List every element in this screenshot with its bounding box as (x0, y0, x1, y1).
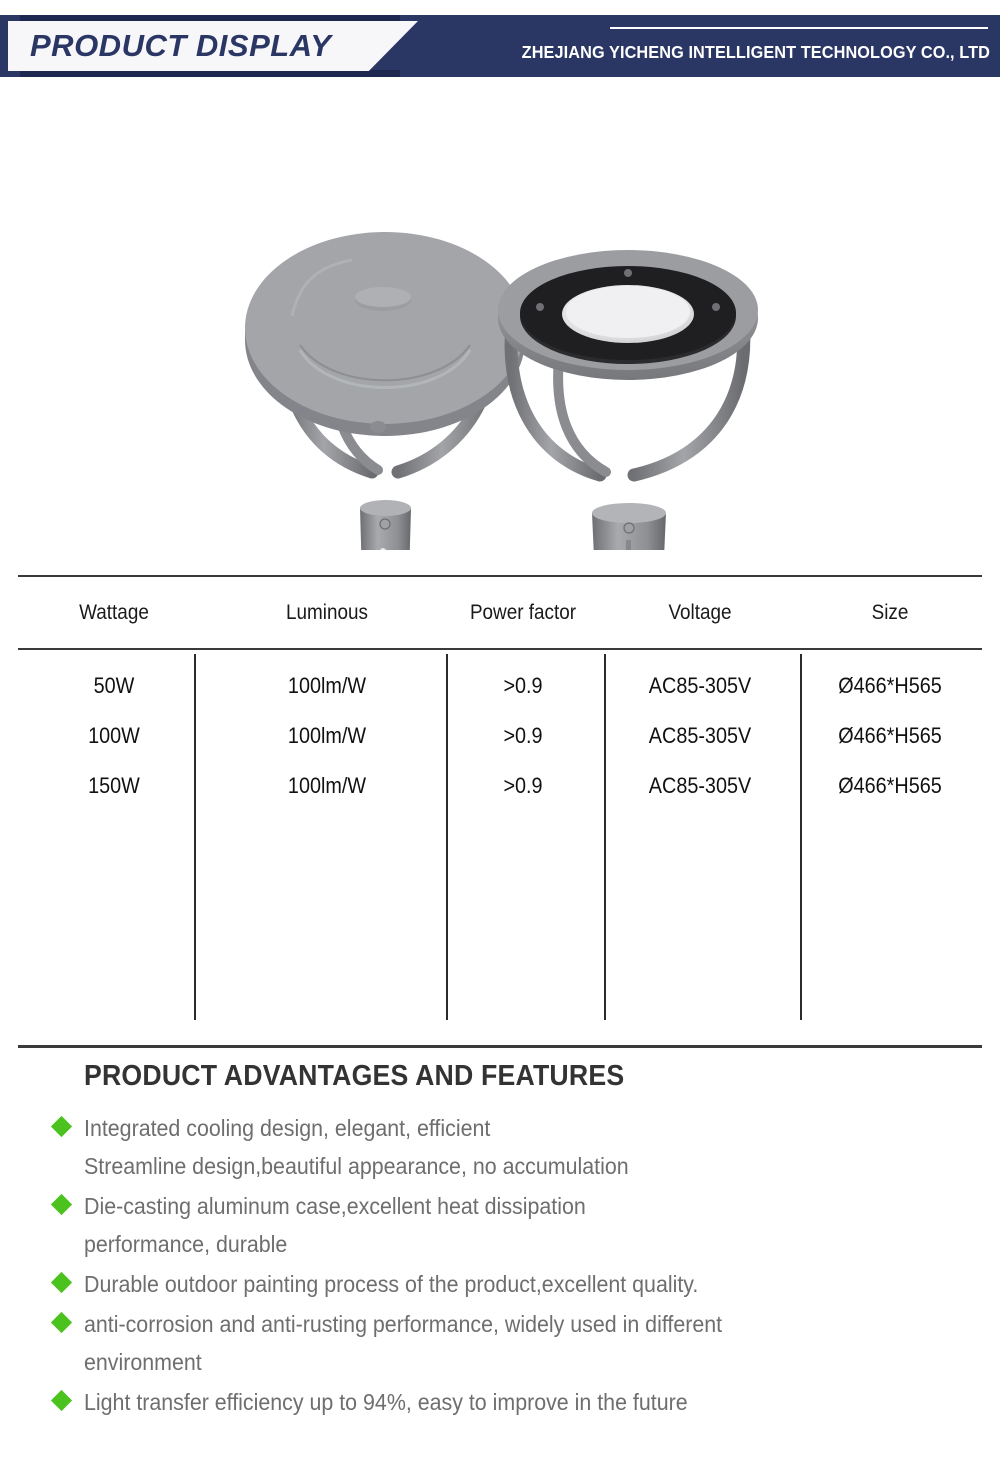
company-name: ZHEJIANG YICHENG INTELLIGENT TECHNOLOGY … (503, 38, 990, 66)
column-header-wattage: Wattage (28, 577, 201, 648)
diamond-bullet-icon (51, 1312, 72, 1333)
cell-size: Ø466*H565 (807, 761, 973, 811)
list-item: Integrated cooling design, elegant, effi… (18, 1109, 982, 1185)
cell-wattage: 50W (28, 661, 201, 711)
table-body: 50W 100lm/W >0.9 AC85-305V Ø466*H565 100… (18, 661, 982, 811)
cell-wattage: 100W (28, 711, 201, 761)
features-list: Integrated cooling design, elegant, effi… (18, 1109, 982, 1421)
features-heading: PRODUCT ADVANTAGES AND FEATURES (84, 1060, 910, 1093)
feature-text: anti-corrosion and anti-rusting performa… (84, 1305, 919, 1343)
table-header-row: Wattage Luminous Power factor Voltage Si… (18, 577, 982, 648)
table-row: 150W 100lm/W >0.9 AC85-305V Ø466*H565 (18, 761, 982, 811)
table-bottom-rule (18, 1045, 982, 1048)
feature-text: environment (84, 1343, 919, 1381)
column-divider (604, 654, 606, 1020)
list-item: anti-corrosion and anti-rusting performa… (18, 1305, 982, 1381)
column-header-voltage: Voltage (612, 577, 788, 648)
page-title: PRODUCT DISPLAY (30, 26, 400, 66)
header-divider-rule (610, 27, 988, 29)
list-item: Die-casting aluminum case,excellent heat… (18, 1187, 982, 1263)
cell-size: Ø466*H565 (807, 661, 973, 711)
header-accent-strip-bottom (20, 70, 400, 77)
cell-size: Ø466*H565 (807, 711, 973, 761)
feature-text: Integrated cooling design, elegant, effi… (84, 1109, 919, 1147)
cell-luminous: 100lm/W (222, 661, 433, 711)
cell-voltage: AC85-305V (612, 661, 788, 711)
cell-power-factor: >0.9 (452, 761, 594, 811)
diamond-bullet-icon (51, 1194, 72, 1215)
table-header-rule (18, 648, 982, 650)
feature-text: Light transfer efficiency up to 94%, eas… (84, 1383, 919, 1421)
cell-wattage: 150W (28, 761, 201, 811)
product-display-page: PRODUCT DISPLAY ZHEJIANG YICHENG INTELLI… (0, 0, 1000, 1465)
left-lamp (245, 232, 525, 550)
feature-text: Die-casting aluminum case,excellent heat… (84, 1187, 919, 1225)
diamond-bullet-icon (51, 1116, 72, 1137)
column-divider (446, 654, 448, 1020)
table-row: 100W 100lm/W >0.9 AC85-305V Ø466*H565 (18, 711, 982, 761)
cell-power-factor: >0.9 (452, 661, 594, 711)
feature-text: Streamline design,beautiful appearance, … (84, 1147, 919, 1185)
diamond-bullet-icon (51, 1272, 72, 1293)
column-divider (194, 654, 196, 1020)
right-lamp (498, 250, 758, 550)
column-divider (800, 654, 802, 1020)
cell-voltage: AC85-305V (612, 761, 788, 811)
column-header-luminous: Luminous (222, 577, 433, 648)
feature-text: performance, durable (84, 1225, 919, 1263)
list-item: Durable outdoor painting process of the … (18, 1265, 982, 1303)
header-accent-strip-top (20, 15, 400, 22)
column-header-size: Size (807, 577, 973, 648)
list-item: Light transfer efficiency up to 94%, eas… (18, 1383, 982, 1421)
cell-voltage: AC85-305V (612, 711, 788, 761)
diamond-bullet-icon (51, 1390, 72, 1411)
specification-table: Wattage Luminous Power factor Voltage Si… (18, 575, 982, 1047)
cell-power-factor: >0.9 (452, 711, 594, 761)
features-section: PRODUCT ADVANTAGES AND FEATURES Integrat… (18, 1060, 982, 1423)
cell-luminous: 100lm/W (222, 761, 433, 811)
product-image (0, 100, 1000, 550)
garden-lamp-illustration (0, 100, 1000, 550)
page-header: PRODUCT DISPLAY ZHEJIANG YICHENG INTELLI… (0, 0, 1000, 92)
table-row: 50W 100lm/W >0.9 AC85-305V Ø466*H565 (18, 661, 982, 711)
feature-text: Durable outdoor painting process of the … (84, 1265, 919, 1303)
cell-luminous: 100lm/W (222, 711, 433, 761)
column-header-power-factor: Power factor (452, 577, 594, 648)
